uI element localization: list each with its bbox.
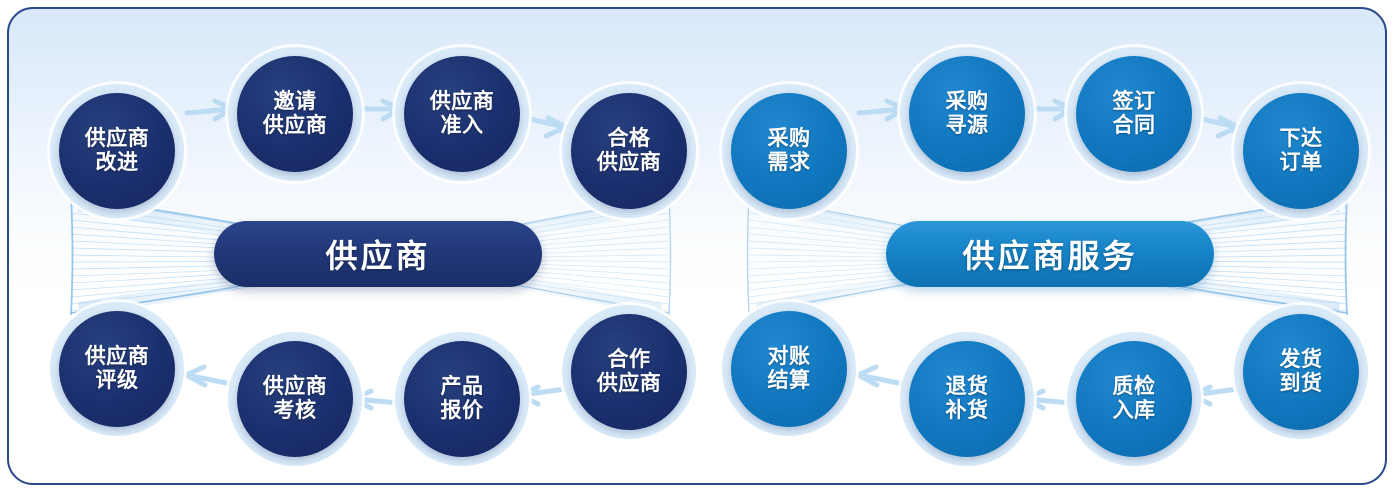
node-label: 对账 结算 — [768, 345, 811, 392]
node-label: 供应商 考核 — [263, 375, 328, 422]
node-inspection-warehousing[interactable]: 质检 入库 — [1076, 341, 1192, 457]
node-product-quotation[interactable]: 产品 报价 — [404, 341, 520, 457]
node-supplier-admission[interactable]: 供应商 准入 — [404, 56, 520, 172]
node-cooperative-supplier[interactable]: 合作 供应商 — [571, 314, 687, 430]
node-label: 供应商 准入 — [430, 90, 495, 137]
node-label: 采购 寻源 — [946, 90, 989, 137]
node-place-order[interactable]: 下达 订单 — [1243, 93, 1359, 209]
node-sign-contract[interactable]: 签订 合同 — [1076, 56, 1192, 172]
node-procurement-sourcing[interactable]: 采购 寻源 — [909, 56, 1025, 172]
node-label: 发货 到货 — [1280, 348, 1323, 395]
arrow-right-bottom-3 — [858, 367, 903, 385]
node-label: 产品 报价 — [441, 375, 484, 422]
node-label: 采购 需求 — [768, 127, 811, 174]
arrow-right-top-1 — [859, 101, 904, 119]
node-label: 供应商 改进 — [85, 127, 150, 174]
right-center-label: 供应商服务 — [962, 231, 1137, 277]
left-center-pill[interactable]: 供应商 — [214, 221, 542, 287]
node-return-replenish[interactable]: 退货 补货 — [909, 341, 1025, 457]
node-reconciliation-settlement[interactable]: 对账 结算 — [731, 311, 847, 427]
node-label: 质检 入库 — [1113, 375, 1156, 422]
node-label: 退货 补货 — [946, 375, 989, 422]
node-label: 邀请 供应商 — [263, 90, 328, 137]
diagram-frame: 供应商 供应商 改进 邀请 供应商 供应商 准入 合格 供应商 合作 供应商 — [7, 7, 1387, 485]
right-center-pill[interactable]: 供应商服务 — [886, 221, 1214, 287]
node-invite-supplier[interactable]: 邀请 供应商 — [237, 56, 353, 172]
node-label: 合格 供应商 — [597, 127, 662, 174]
node-supplier-improvement[interactable]: 供应商 改进 — [59, 93, 175, 209]
node-label: 下达 订单 — [1280, 127, 1323, 174]
node-shipment-arrival[interactable]: 发货 到货 — [1243, 314, 1359, 430]
left-center-label: 供应商 — [325, 231, 430, 277]
node-qualified-supplier[interactable]: 合格 供应商 — [571, 93, 687, 209]
arrow-left-bottom-3 — [186, 367, 231, 385]
arrow-left-top-1 — [187, 101, 232, 119]
supplier-process-diagram: 供应商 供应商 改进 邀请 供应商 供应商 准入 合格 供应商 合作 供应商 — [0, 0, 1400, 496]
node-procurement-demand[interactable]: 采购 需求 — [731, 93, 847, 209]
node-label: 签订 合同 — [1113, 90, 1156, 137]
node-supplier-assessment[interactable]: 供应商 考核 — [237, 341, 353, 457]
node-supplier-rating[interactable]: 供应商 评级 — [59, 311, 175, 427]
node-label: 合作 供应商 — [597, 348, 662, 395]
node-label: 供应商 评级 — [85, 345, 150, 392]
